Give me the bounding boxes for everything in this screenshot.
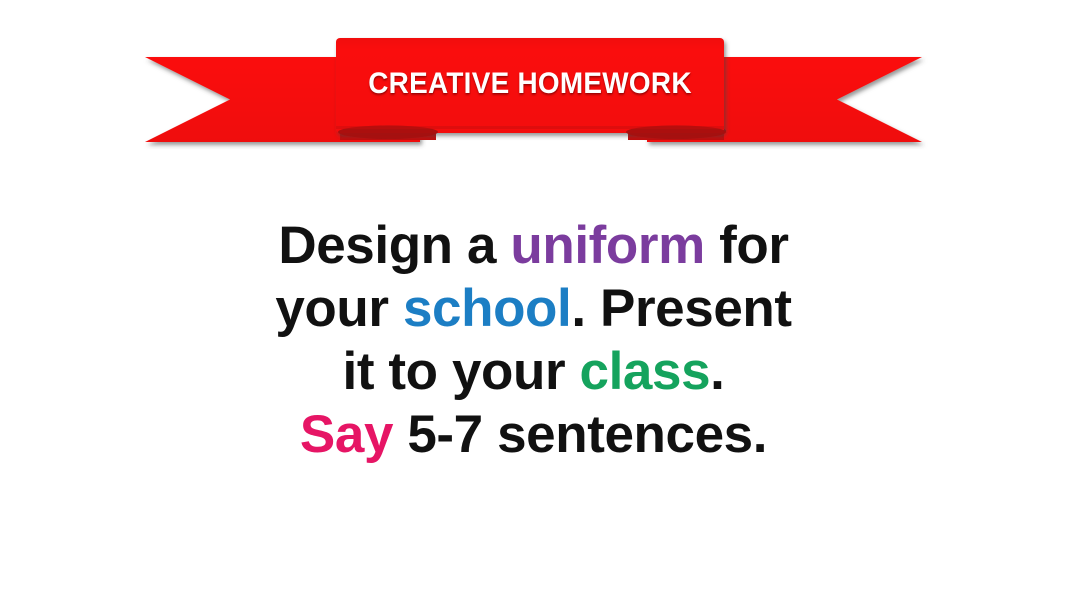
line3-part1: it to your (343, 342, 580, 401)
line3-part2: . (710, 342, 724, 401)
ribbon-center-panel (336, 38, 724, 133)
line1-part1: Design a (278, 216, 510, 275)
line2-part1: your (275, 279, 403, 338)
line2-highlight-school: school (403, 279, 571, 338)
text-line-4: Say 5-7 sentences. (0, 403, 1067, 466)
text-line-2: your school. Present (0, 277, 1067, 340)
text-line-1: Design a uniform for (0, 214, 1067, 277)
line1-part2: for (705, 216, 789, 275)
assignment-text: Design a uniform for your school. Presen… (0, 214, 1067, 466)
line2-part2: . Present (571, 279, 791, 338)
ribbon-graphic (0, 0, 1067, 170)
line4-highlight-say: Say (300, 405, 393, 464)
line4-part2: 5-7 sentences. (393, 405, 767, 464)
slide-canvas: CREATIVE HOMEWORK Design a uniform for y… (0, 0, 1067, 600)
ribbon-banner: CREATIVE HOMEWORK (0, 0, 1067, 170)
line3-highlight-class: class (580, 342, 711, 401)
line1-highlight-uniform: uniform (510, 216, 704, 275)
text-line-3: it to your class. (0, 340, 1067, 403)
